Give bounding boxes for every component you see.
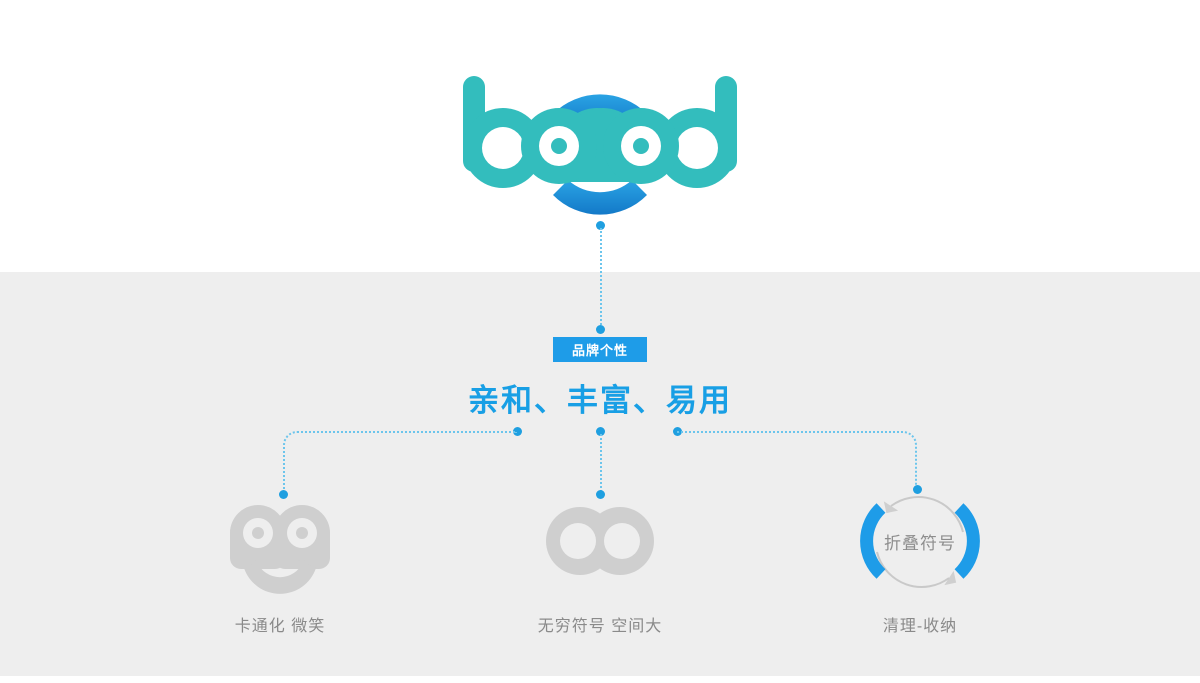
infinity-symbol-icon <box>545 504 655 578</box>
brand-logo <box>455 72 745 217</box>
connector-line-mid <box>600 434 602 492</box>
badge-label: 品牌个性 <box>572 340 628 359</box>
connector-elbow-left <box>283 431 517 494</box>
page-canvas: 品牌个性 亲和、丰富、易用 <box>0 0 1200 683</box>
logo-arc-down-icon <box>553 180 647 215</box>
connector-dot-badge <box>596 325 605 334</box>
feature-column-fold: 折叠符号 清理-收纳 <box>790 486 1050 636</box>
infinity-symbol-icon-box <box>470 486 730 596</box>
brand-personality-badge: 品牌个性 <box>553 337 647 362</box>
arrowhead-top-left <box>884 499 898 513</box>
connector-line-logo-badge <box>600 228 602 328</box>
logo-eyes-face <box>521 108 679 184</box>
page-title: 亲和、丰富、易用 <box>0 375 1200 420</box>
connector-elbow-right <box>677 431 917 489</box>
cartoon-face-icon-box <box>150 486 410 596</box>
circular-refresh-icon-box: 折叠符号 <box>790 486 1050 596</box>
background-band-bottom <box>0 676 1200 683</box>
feature-column-cartoon: 卡通化 微笑 <box>150 486 410 636</box>
feature-caption: 清理-收纳 <box>790 612 1050 636</box>
cartoon-face-icon <box>226 488 334 594</box>
circular-refresh-icon <box>859 482 981 600</box>
feature-column-infinity: 无穷符号 空间大 <box>470 486 730 636</box>
arrowhead-bottom-right <box>942 571 956 585</box>
feature-caption: 无穷符号 空间大 <box>470 612 730 636</box>
feature-caption: 卡通化 微笑 <box>150 612 410 636</box>
